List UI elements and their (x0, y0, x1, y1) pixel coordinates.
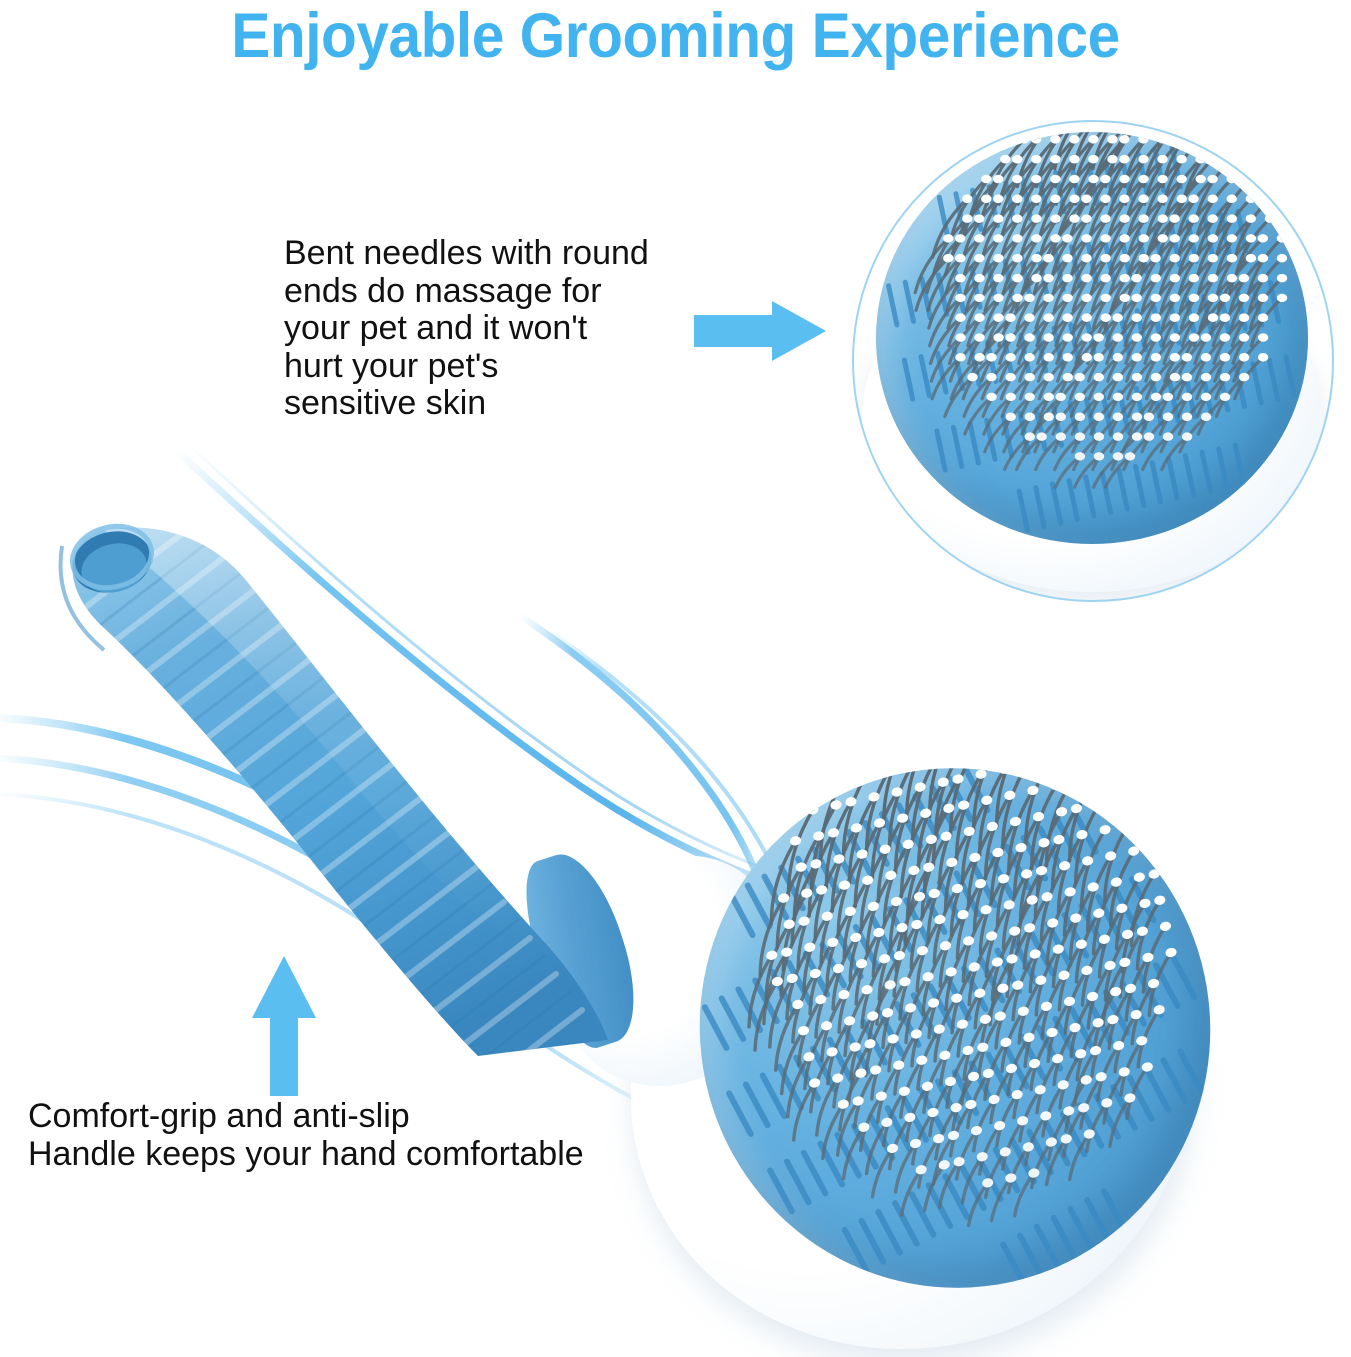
infographic-canvas: Enjoyable Grooming Experience (0, 0, 1351, 1357)
brush-handle (8, 516, 648, 1056)
arrow-up-icon (252, 956, 316, 1096)
callout-comfort-grip-text: Comfort-grip and anti-slip Handle keeps … (28, 1098, 668, 1173)
